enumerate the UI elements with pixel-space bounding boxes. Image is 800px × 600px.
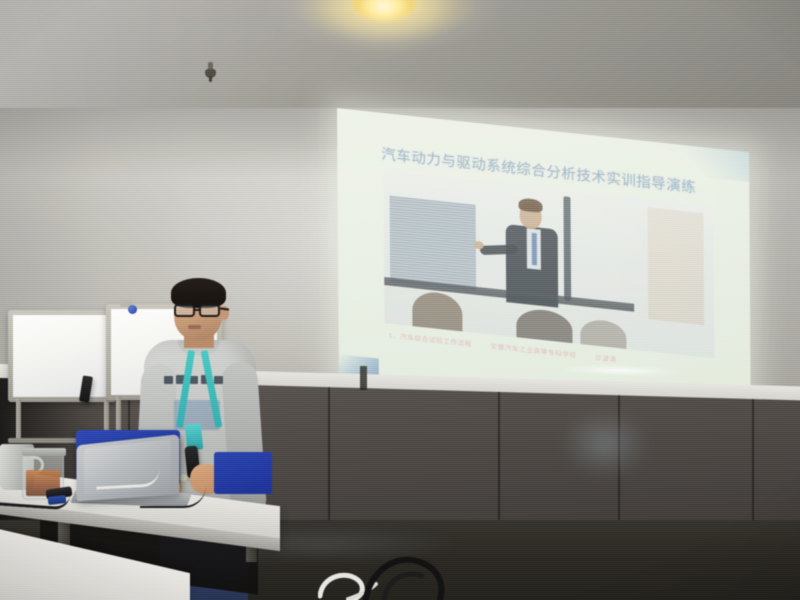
slide-subtitle-part-2: 安徽汽车工业高等专科学校 (490, 343, 576, 359)
black-hose (362, 552, 470, 600)
cabinet-light-reflection (560, 408, 650, 481)
photo-canvas: 汽车动力与驱动系统综合分析技术实训指导演练 1、汽车综合试验工作流程 安徽汽车工… (0, 0, 800, 600)
slide-subtitle-part-1: 1、汽车综合试验工作流程 (389, 333, 472, 349)
slide-photo (383, 171, 714, 358)
chair-blue-2[interactable] (214, 452, 272, 494)
slide-subtitle-part-3: 沙波涛 (595, 355, 617, 364)
eyeglasses-icon (172, 304, 226, 318)
sprinkler-head-icon (203, 62, 218, 82)
magnet-icon[interactable] (128, 305, 137, 314)
presenter-mouth (188, 325, 201, 329)
cabinet-edge-post (360, 366, 367, 390)
